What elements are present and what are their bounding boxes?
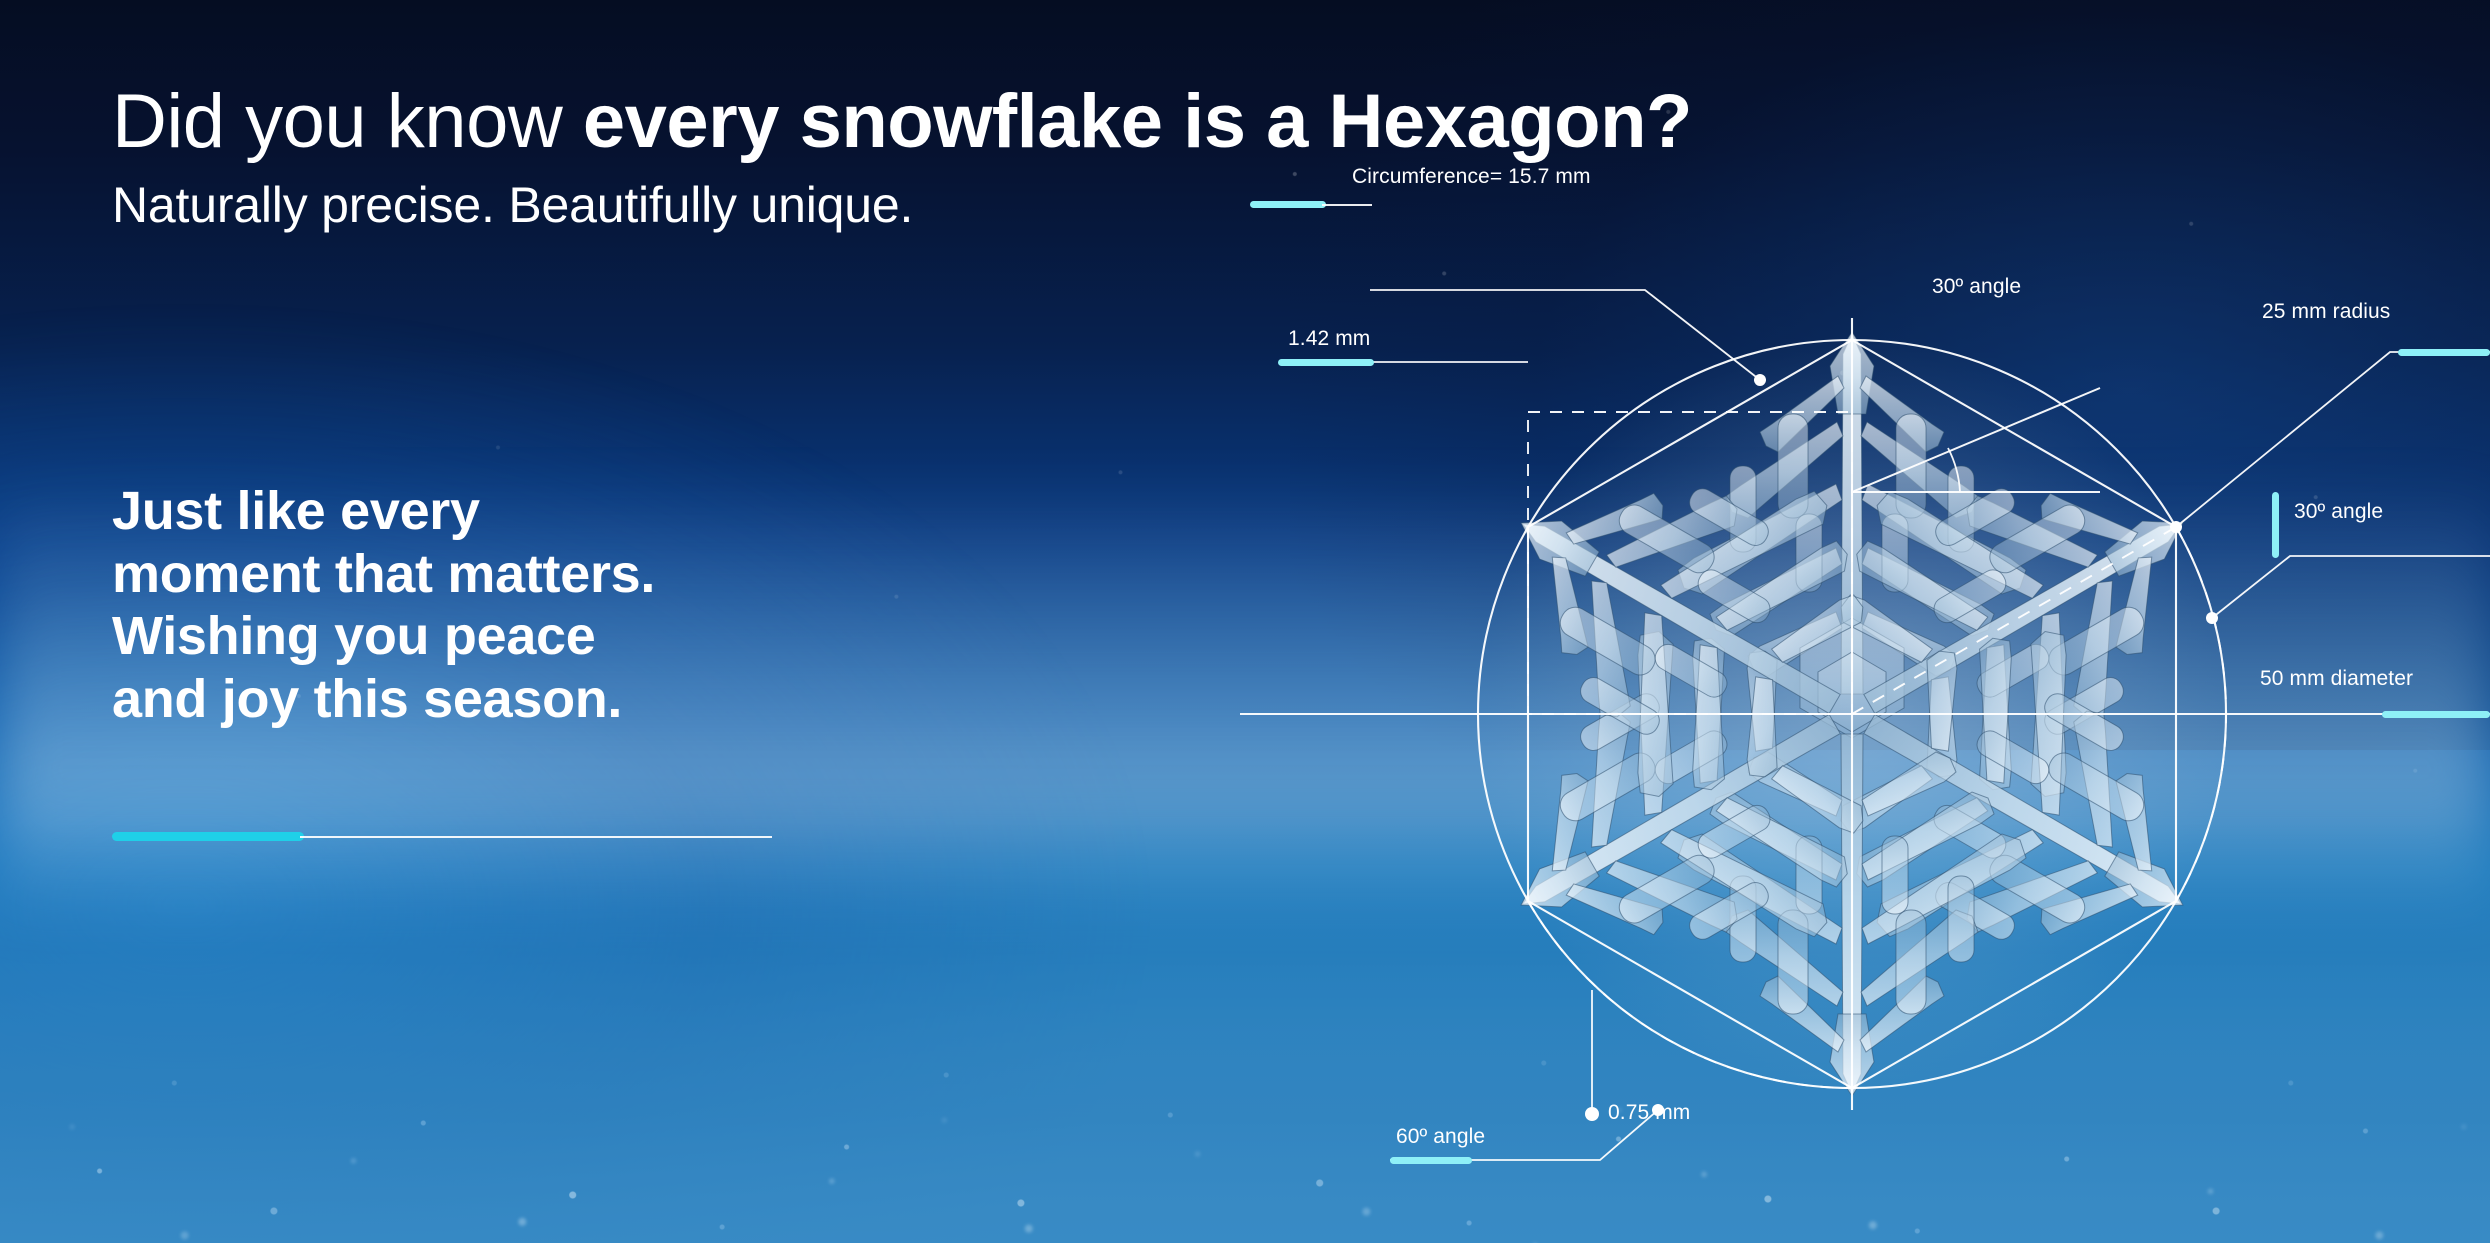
accent-divider (112, 832, 772, 841)
label-arm-thickness: 0.75 mm (1608, 1101, 1690, 1125)
label-angle-top: 30º angle (1932, 275, 2021, 299)
label-circumference: Circumference= 15.7 mm (1352, 165, 1591, 189)
label-angle-right-tick (2272, 492, 2279, 558)
label-circumference-tickline (1322, 204, 1372, 206)
page-subtitle: Naturally precise. Beautifully unique. (112, 176, 1292, 234)
accent-divider-cyan (112, 832, 304, 841)
banner-stage: Did you know every snowflake is a Hexago… (0, 0, 2490, 1243)
greeting-line-4: and joy this season. (112, 668, 892, 731)
label-diameter: 50 mm diameter (2260, 667, 2413, 691)
label-angle-bottom-tick (1390, 1157, 1472, 1164)
radius-leader-dot (2170, 521, 2182, 533)
circumference-leader-dot (1754, 374, 1766, 386)
greeting-message: Just like every moment that matters. Wis… (112, 480, 892, 731)
label-width-tick (1278, 359, 1374, 366)
label-diameter-tick (2382, 711, 2490, 718)
angle-right-leader (2212, 556, 2490, 618)
headline-light-part: Did you know (112, 79, 583, 164)
angle-right-leader-dot (2206, 612, 2218, 624)
snowflake-diagram: Circumference= 15.7 mm 30º angle 25 mm r… (1260, 230, 2490, 1240)
label-radius: 25 mm radius (2262, 300, 2390, 324)
page-title: Did you know every snowflake is a Hexago… (112, 84, 1292, 160)
label-angle-right: 30º angle (2294, 500, 2383, 524)
greeting-line-1: Just like every (112, 480, 892, 543)
greeting-line-2: moment that matters. (112, 543, 892, 606)
headline-block: Did you know every snowflake is a Hexago… (112, 84, 1292, 234)
accent-divider-white (300, 836, 772, 838)
greeting-line-3: Wishing you peace (112, 605, 892, 668)
label-circumference-tick (1250, 201, 1326, 208)
circumference-leader (1370, 290, 1760, 380)
thickness-leader-dot (1585, 1107, 1599, 1121)
label-width: 1.42 mm (1288, 327, 1370, 351)
snowflake-diagram-svg (1260, 230, 2490, 1240)
label-angle-bottom: 60º angle (1396, 1125, 1485, 1149)
headline-bold-part: every snowflake is a Hexagon? (583, 79, 1692, 164)
label-radius-tick (2398, 349, 2490, 356)
